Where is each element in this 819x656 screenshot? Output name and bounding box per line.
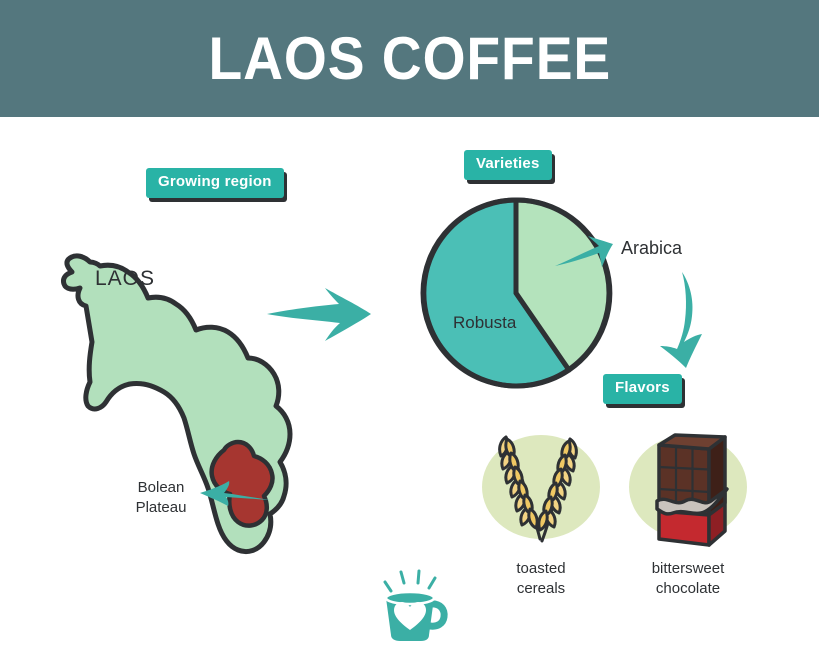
arabica-pointer-arrow-icon [553, 230, 615, 270]
flavor-art-toasted-cereals [466, 415, 616, 555]
curved-down-arrow-icon [660, 268, 710, 368]
varieties-pie-chart [415, 192, 620, 397]
chocolate-bar-icon [613, 415, 763, 555]
coffee-mug-svg [371, 562, 457, 644]
flavor-caption-line1: bittersweet [652, 560, 725, 577]
map-country-label: LAOS [95, 267, 155, 291]
bolean-plateau-label-line1: Bolean [138, 479, 185, 496]
flavor-art-bittersweet-chocolate [613, 415, 763, 555]
flavor-caption-line2: chocolate [656, 580, 720, 597]
flavor-caption-toasted-cereals: toasted cereals [466, 559, 616, 600]
header-band: LAOS COFFEE [0, 0, 819, 117]
badge-growing-region: Growing region [146, 168, 284, 198]
pie-label-arabica: Arabica [621, 238, 682, 259]
coffee-mug-heart-icon [371, 562, 457, 644]
mug-sparkles [385, 571, 435, 591]
badge-varieties: Varieties [464, 150, 552, 180]
page-title: LAOS COFFEE [208, 29, 611, 89]
flavor-caption-line1: toasted [516, 560, 565, 577]
mug-rim [386, 592, 434, 604]
left-arrow-icon [198, 478, 272, 510]
infographic-canvas: LAOS COFFEE LAOS Bolean Plateau Growing … [0, 0, 819, 656]
flavor-caption-bittersweet-chocolate: bittersweet chocolate [613, 559, 763, 600]
flavor-caption-line2: cereals [517, 580, 565, 597]
flavor-item-bittersweet-chocolate: bittersweet chocolate [613, 415, 763, 600]
right-arrow-icon [265, 286, 375, 344]
pie-label-robusta: Robusta [453, 313, 516, 333]
wheat-stalks-icon [466, 415, 616, 555]
bolean-plateau-label: Bolean Plateau [118, 478, 204, 519]
flavor-item-toasted-cereals: toasted cereals [466, 415, 616, 600]
pie-chart-svg [415, 192, 620, 397]
bolean-plateau-label-line2: Plateau [136, 499, 187, 516]
